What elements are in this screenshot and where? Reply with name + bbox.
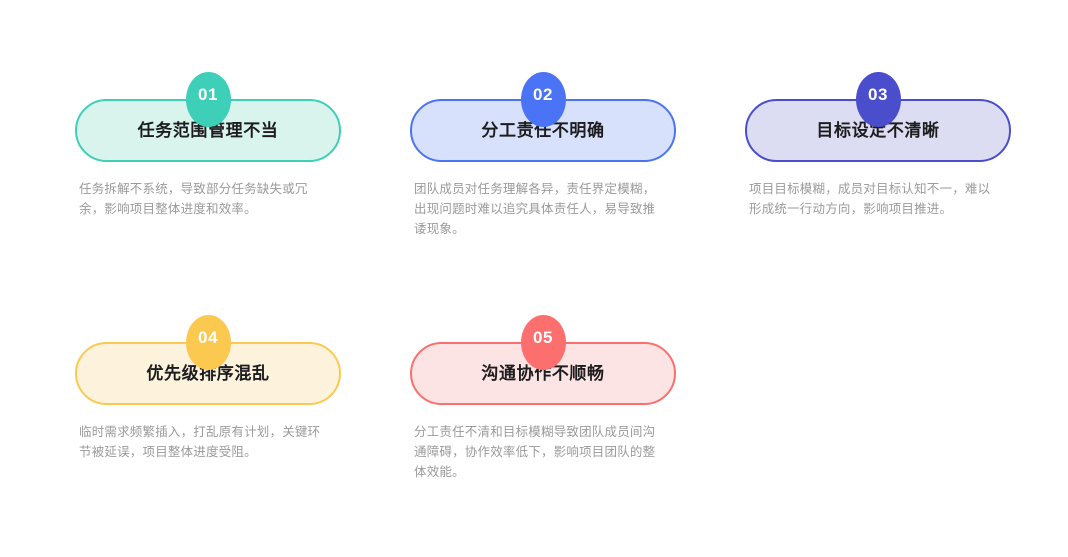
card-description: 临时需求频繁插入，打乱原有计划，关键环节被延误，项目整体进度受阻。 [75,422,329,462]
card-title-pill[interactable]: 优先级排序混乱 [75,342,341,405]
card-title: 分工责任不明确 [481,122,604,139]
card-title-pill[interactable]: 分工责任不明确 [410,99,676,162]
issue-card[interactable]: 01 任务范围管理不当 任务拆解不系统，导致部分任务缺失或冗余，影响项目整体进度… [75,72,341,219]
card-description: 团队成员对任务理解各异，责任界定模糊，出现问题时难以追究具体责任人，易导致推诿现… [410,179,664,239]
card-title-pill[interactable]: 任务范围管理不当 [75,99,341,162]
issue-card[interactable]: 05 沟通协作不顺畅 分工责任不清和目标模糊导致团队成员间沟通障碍，协作效率低下… [410,315,676,482]
infographic-board: 01 任务范围管理不当 任务拆解不系统，导致部分任务缺失或冗余，影响项目整体进度… [0,0,1068,557]
card-title: 目标设定不清晰 [816,122,939,139]
card-title: 沟通协作不顺畅 [481,365,604,382]
issue-card[interactable]: 03 目标设定不清晰 项目目标模糊，成员对目标认知不一，难以形成统一行动方向，影… [745,72,1011,219]
card-title: 优先级排序混乱 [146,365,269,382]
issue-card[interactable]: 02 分工责任不明确 团队成员对任务理解各异，责任界定模糊，出现问题时难以追究具… [410,72,676,239]
card-title: 任务范围管理不当 [138,122,279,139]
card-description: 任务拆解不系统，导致部分任务缺失或冗余，影响项目整体进度和效率。 [75,179,329,219]
card-title-pill[interactable]: 目标设定不清晰 [745,99,1011,162]
card-description: 分工责任不清和目标模糊导致团队成员间沟通障碍，协作效率低下，影响项目团队的整体效… [410,422,664,482]
card-description: 项目目标模糊，成员对目标认知不一，难以形成统一行动方向，影响项目推进。 [745,179,999,219]
issue-card[interactable]: 04 优先级排序混乱 临时需求频繁插入，打乱原有计划，关键环节被延误，项目整体进… [75,315,341,462]
card-title-pill[interactable]: 沟通协作不顺畅 [410,342,676,405]
